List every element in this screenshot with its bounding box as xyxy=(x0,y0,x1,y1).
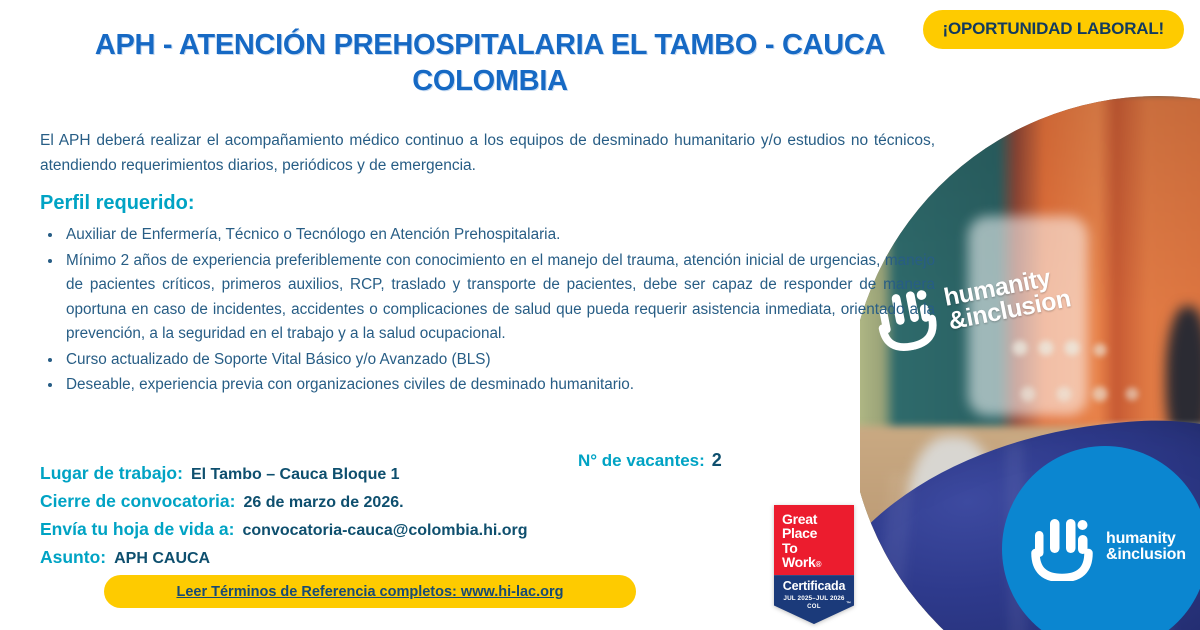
detail-row-closing-date: Cierre de convocatoria: 26 de marzo de 2… xyxy=(40,491,560,512)
logo-line2: &inclusion xyxy=(1106,547,1186,563)
details-block: Lugar de trabajo: El Tambo – Cauca Bloqu… xyxy=(40,463,560,575)
email-label: Envía tu hoja de vida a: xyxy=(40,519,235,540)
subject-value: APH CAUCA xyxy=(114,550,210,568)
vacancies-label: N° de vacantes: xyxy=(578,451,705,471)
intro-paragraph: El APH deberá realizar el acompañamiento… xyxy=(40,128,935,178)
gptw-country: COL xyxy=(774,604,854,610)
opportunity-badge: ¡OPORTUNIDAD LABORAL! xyxy=(923,10,1185,49)
registered-mark-icon: ® xyxy=(816,560,822,569)
detail-row-workplace: Lugar de trabajo: El Tambo – Cauca Bloqu… xyxy=(40,463,560,484)
logo-text: humanity &inclusion xyxy=(1106,531,1186,564)
requirements-list: Auxiliar de Enfermería, Técnico o Tecnól… xyxy=(40,223,935,397)
subject-label: Asunto: xyxy=(40,547,106,568)
workplace-value: El Tambo – Cauca Bloque 1 xyxy=(191,466,400,484)
list-item: Auxiliar de Enfermería, Técnico o Tecnól… xyxy=(40,223,935,247)
terms-of-reference-button[interactable]: Leer Términos de Referencia completos: w… xyxy=(104,575,636,608)
gptw-period: JUL 2025–JUL 2026 xyxy=(774,595,854,602)
gptw-top: Great Place To Work® xyxy=(774,505,854,575)
gptw-line-2: Place xyxy=(782,526,854,540)
page-title: APH - ATENCIÓN PREHOSPITALARIA EL TAMBO … xyxy=(40,28,940,100)
trademark-icon: ™ xyxy=(846,601,851,607)
list-item: Mínimo 2 años de experiencia preferiblem… xyxy=(40,249,935,347)
detail-row-subject: Asunto: APH CAUCA xyxy=(40,547,560,568)
gptw-certified: Certificada xyxy=(774,579,854,593)
vacancies-block: N° de vacantes: 2 xyxy=(578,450,722,471)
job-posting-poster: humanity &inclusion humanity &inclusi xyxy=(0,0,1200,630)
vacancies-value: 2 xyxy=(712,450,722,471)
gptw-line-1: Great xyxy=(782,512,854,526)
main-content: El APH deberá realizar el acompañamiento… xyxy=(40,128,935,399)
gptw-line-3: To xyxy=(782,541,854,555)
workplace-label: Lugar de trabajo: xyxy=(40,463,183,484)
list-item: Deseable, experiencia previa con organiz… xyxy=(40,373,935,397)
logo-line1: humanity xyxy=(1106,531,1186,547)
closing-value: 26 de marzo de 2026. xyxy=(243,494,403,512)
great-place-to-work-badge: Great Place To Work® Certificada JUL 202… xyxy=(774,505,854,624)
title-line-2: COLOMBIA xyxy=(412,65,567,97)
hi-hand-icon xyxy=(1028,509,1094,581)
closing-label: Cierre de convocatoria: xyxy=(40,491,235,512)
profile-heading: Perfil requerido: xyxy=(40,192,935,215)
detail-row-email: Envía tu hoja de vida a: convocatoria-ca… xyxy=(40,519,560,540)
gptw-line-4: Work® xyxy=(782,555,854,569)
email-value[interactable]: convocatoria-cauca@colombia.hi.org xyxy=(243,522,528,540)
list-item: Curso actualizado de Soporte Vital Básic… xyxy=(40,348,935,372)
title-line-1: APH - ATENCIÓN PREHOSPITALARIA EL TAMBO … xyxy=(95,29,885,61)
gptw-bottom: Certificada JUL 2025–JUL 2026 COL ™ xyxy=(774,575,854,624)
